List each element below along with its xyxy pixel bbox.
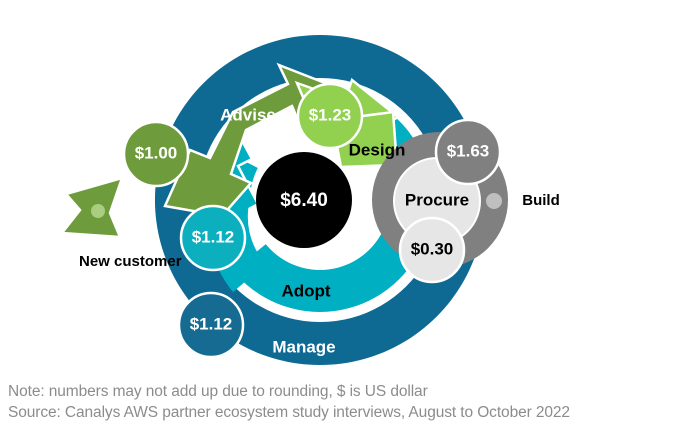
stage-label-design: Design: [349, 140, 406, 159]
partner-lifecycle-diagram: Advise $1.00 Design $1.23 Build $1.63 Pr…: [0, 0, 680, 442]
stage-label-advise: Advise: [220, 105, 276, 124]
stage-label-procure: Procure: [405, 190, 469, 209]
new-customer-label: New customer: [79, 253, 182, 270]
footnote-note: Note: numbers may not add up due to roun…: [8, 381, 676, 402]
new-customer-dot-icon: [91, 204, 105, 218]
footnote-source: Source: Canalys AWS partner ecosystem st…: [8, 402, 676, 423]
center-total-label: $6.40: [280, 190, 328, 211]
stage-value-manage: $1.12: [190, 314, 233, 333]
stage-label-build: Build: [522, 192, 560, 209]
stage-label-manage: Manage: [272, 337, 335, 356]
stage-value-build: $1.63: [447, 141, 490, 160]
stage-label-adopt: Adopt: [281, 281, 330, 300]
new-customer-arrow: [62, 178, 122, 237]
stage-value-procure: $0.30: [411, 239, 454, 258]
cycle-diagram-svg: Advise $1.00 Design $1.23 Build $1.63 Pr…: [0, 0, 680, 442]
stage-value-design: $1.23: [309, 105, 352, 124]
stage-value-adopt: $1.12: [192, 227, 235, 246]
build-dot-icon: [486, 193, 502, 209]
footnotes: Note: numbers may not add up due to roun…: [8, 381, 676, 423]
stage-value-advise: $1.00: [135, 143, 178, 162]
